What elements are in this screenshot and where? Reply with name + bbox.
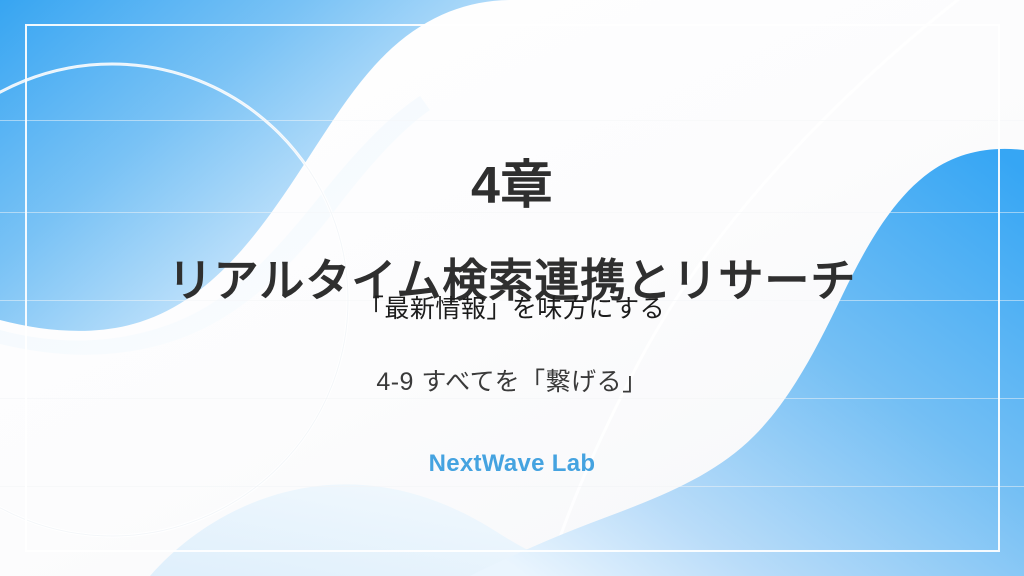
chapter-number: 4章: [0, 158, 1024, 215]
chapter-subtitle: 「最新情報」を味方にする: [0, 289, 1024, 325]
title-slide: 4章 リアルタイム検索連携とリサーチ 「最新情報」を味方にする 4-9 すべてを…: [0, 0, 1024, 576]
section-label: 4-9 すべてを「繋げる」: [0, 362, 1024, 398]
slide-content: 4章 リアルタイム検索連携とリサーチ 「最新情報」を味方にする 4-9 すべてを…: [0, 0, 1024, 576]
brand-name: NextWave Lab: [0, 450, 1024, 478]
